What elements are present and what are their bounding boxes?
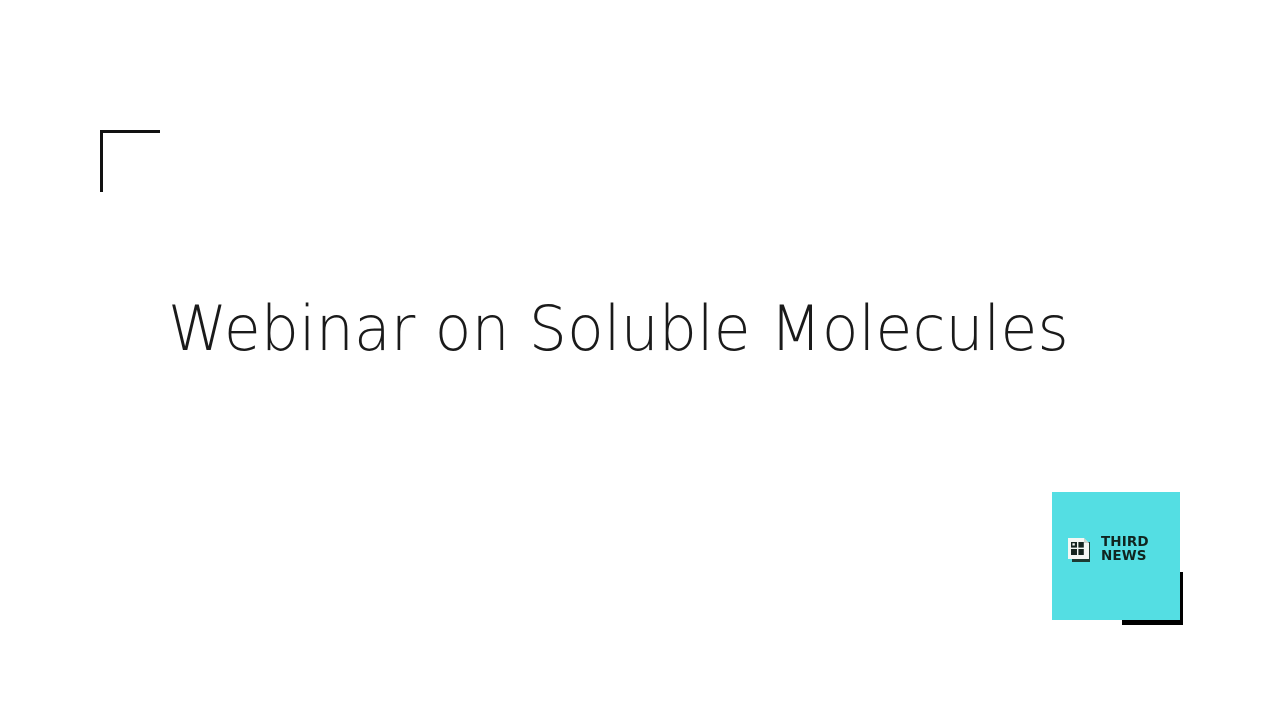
slide-title: Webinar on Soluble Molecules — [168, 292, 1037, 365]
document-grid-icon — [1066, 536, 1094, 564]
presentation-slide: Webinar on Soluble Molecules — [0, 0, 1280, 720]
logo-wordmark-line-2: NEWS — [1101, 550, 1149, 564]
corner-bracket-decoration — [100, 130, 160, 192]
logo-wordmark: THIRD NEWS — [1101, 536, 1149, 564]
title-block: Webinar on Soluble Molecules — [168, 292, 1068, 365]
logo-badge: THIRD NEWS — [1052, 492, 1180, 620]
logo-lockup: THIRD NEWS — [1066, 536, 1149, 564]
